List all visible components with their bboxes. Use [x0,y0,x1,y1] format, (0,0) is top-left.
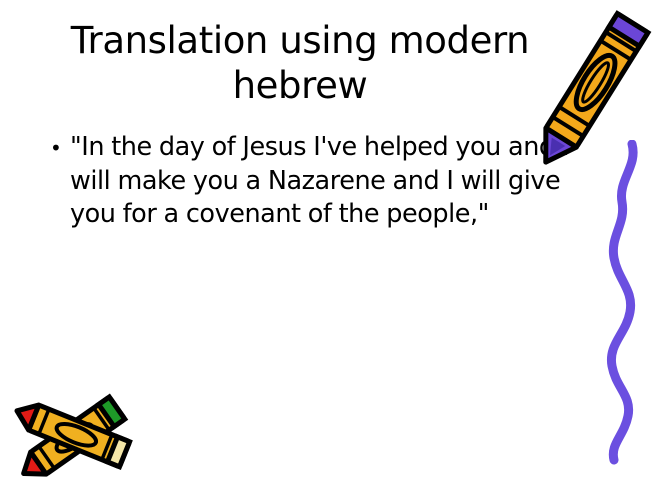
bullet-list-item: • "In the day of Jesus I've helped you a… [46,131,591,232]
slide-title-line-1: Translation using modern [40,18,560,63]
slide-body: • "In the day of Jesus I've helped you a… [46,131,591,232]
slide-title-line-2: hebrew [40,63,560,108]
squiggle-line-icon [588,140,654,465]
bullet-point-icon: • [46,131,70,165]
slide-title: Translation using modern hebrew [40,18,560,108]
crossed-crayons-icon [4,378,156,495]
slide-canvas: Translation using modern hebrew • "In th… [0,0,660,495]
bullet-item-text: "In the day of Jesus I've helped you and… [70,131,591,232]
